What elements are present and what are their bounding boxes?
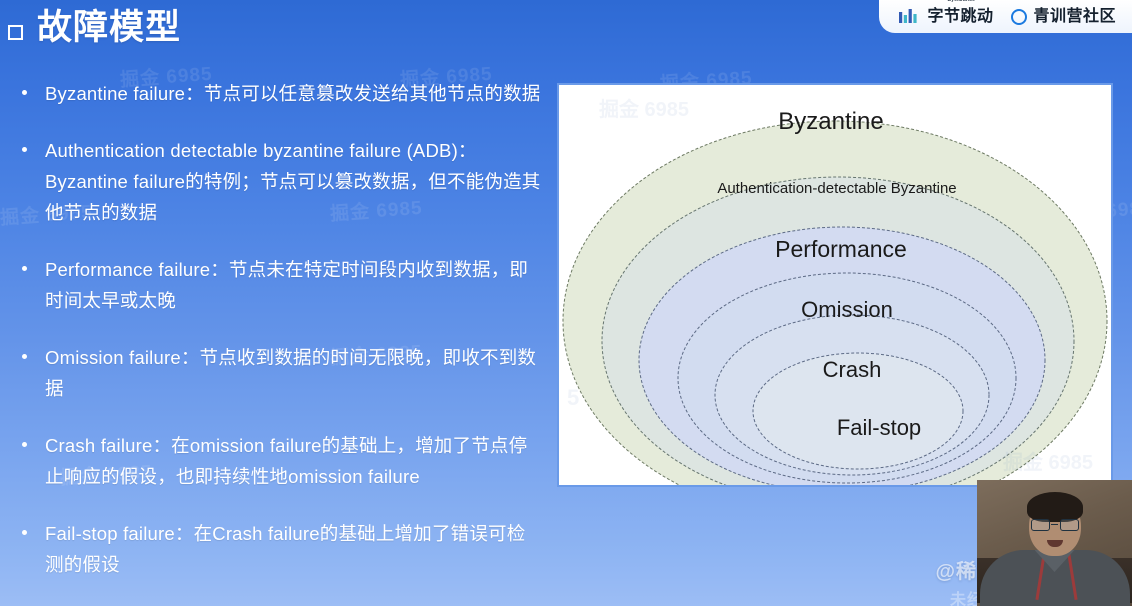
- list-item: Authentication detectable byzantine fail…: [14, 135, 542, 228]
- glasses-lens-left: [1031, 519, 1050, 531]
- bar-chart-icon: [899, 9, 921, 25]
- bullet-text: Crash failure：在omission failure的基础上，增加了节…: [45, 430, 542, 492]
- brand-bytedance: ByteDance 字节跳动: [899, 8, 993, 26]
- failure-model-diagram: 掘金 6985 掘金 6985 5 Byzantine Authenticati…: [557, 83, 1113, 487]
- ring-label-performance: Performance: [775, 236, 907, 262]
- bullet-dot-icon: [22, 530, 27, 535]
- bullet-text: Fail-stop failure：在Crash failure的基础上增加了错…: [45, 518, 542, 580]
- square-outline-icon: [8, 25, 23, 40]
- bullet-dot-icon: [22, 354, 27, 359]
- ring-label-omission: Omission: [801, 297, 893, 322]
- page-title-row: 故障模型: [8, 8, 181, 48]
- bullet-dot-icon: [22, 147, 27, 152]
- bullet-text: Byzantine failure：节点可以任意篡改发送给其他节点的数据: [45, 78, 540, 109]
- bullet-dot-icon: [22, 442, 27, 447]
- nested-ellipse-svg: Byzantine Authentication-detectable Byza…: [559, 85, 1111, 485]
- bullet-dot-icon: [22, 266, 27, 271]
- page-title: 故障模型: [37, 8, 181, 48]
- ring-label-adb: Authentication-detectable Byzantine: [717, 180, 956, 197]
- bullet-text: Omission failure：节点收到数据的时间无限晚，即收不到数据: [45, 342, 542, 404]
- presenter-glasses-icon: [1031, 518, 1079, 531]
- bullet-text: Performance failure：节点未在特定时间段内收到数据，即时间太早…: [45, 254, 542, 316]
- slide-canvas: 掘金 6985 掘金 6985 掘金 6985 掘金 6985 掘金 6985 …: [0, 0, 1132, 606]
- ring-label-crash: Crash: [823, 357, 882, 382]
- bullet-text: Authentication detectable byzantine fail…: [45, 135, 542, 228]
- brand-bytedance-cn: 字节跳动: [927, 8, 993, 25]
- glasses-lens-right: [1060, 519, 1079, 531]
- brand-bar: ByteDance 字节跳动 青训营社区: [879, 0, 1132, 33]
- list-item: Fail-stop failure：在Crash failure的基础上增加了错…: [14, 518, 542, 580]
- circle-swirl-icon: [1011, 9, 1027, 25]
- brand-community: 青训营社区: [1011, 9, 1116, 25]
- list-item: Performance failure：节点未在特定时间段内收到数据，即时间太早…: [14, 254, 542, 316]
- presenter-webcam[interactable]: [977, 480, 1132, 606]
- brand-bytedance-en: ByteDance: [947, 0, 975, 3]
- list-item: Omission failure：节点收到数据的时间无限晚，即收不到数据: [14, 342, 542, 404]
- ring-label-fail-stop: Fail-stop: [837, 415, 921, 440]
- bullet-dot-icon: [22, 90, 27, 95]
- glasses-bridge: [1051, 524, 1058, 526]
- ring-label-byzantine: Byzantine: [778, 108, 883, 135]
- brand-community-cn: 青训营社区: [1033, 9, 1116, 25]
- list-item: Crash failure：在omission failure的基础上，增加了节…: [14, 430, 542, 492]
- bullet-list: Byzantine failure：节点可以任意篡改发送给其他节点的数据 Aut…: [14, 78, 542, 606]
- list-item: Byzantine failure：节点可以任意篡改发送给其他节点的数据: [14, 78, 542, 109]
